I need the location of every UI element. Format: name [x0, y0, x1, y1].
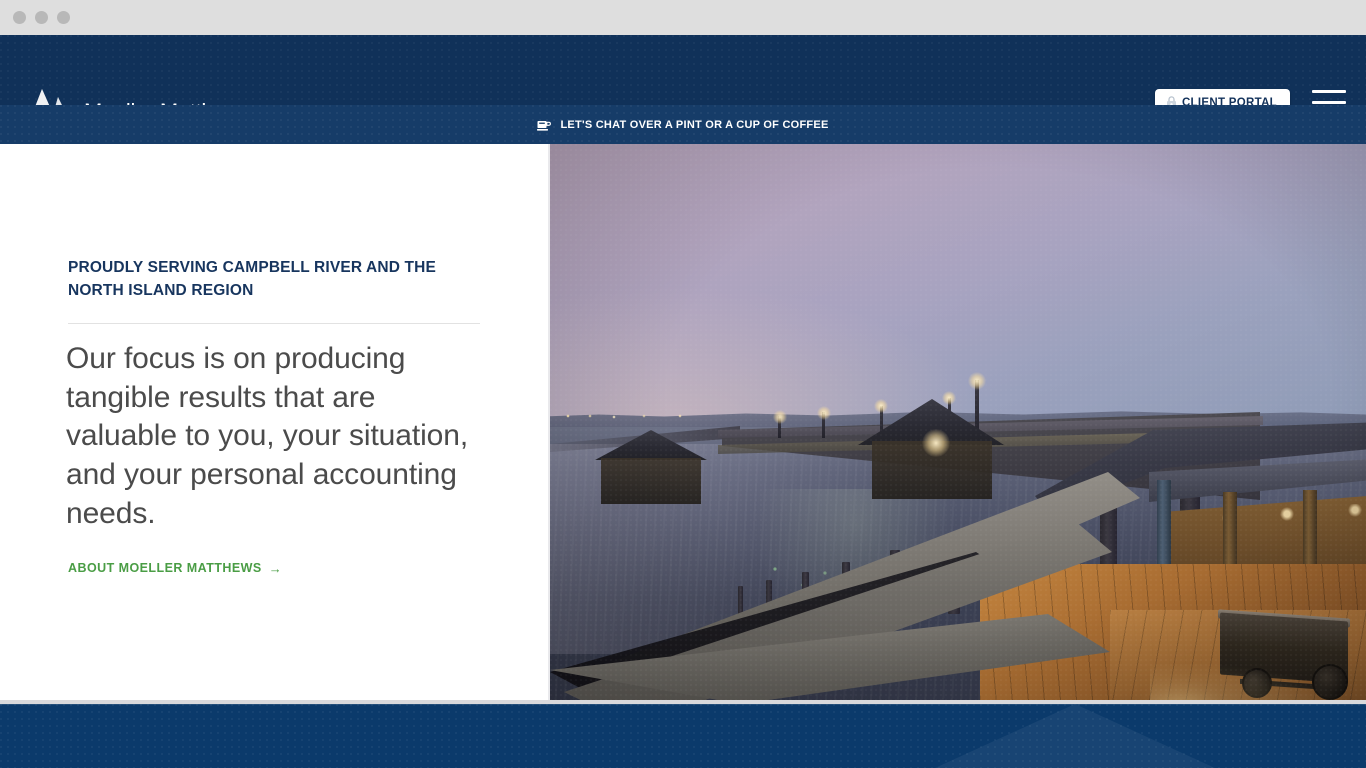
page-root: Moeller Matthews CHARTERED PROFESSIONAL … — [0, 0, 1366, 768]
bottom-band — [0, 704, 1366, 768]
photo-shelter-lamp-glow — [922, 429, 950, 457]
photo-small-shelter — [585, 430, 715, 510]
site-header: Moeller Matthews CHARTERED PROFESSIONAL … — [0, 35, 1366, 105]
announcement-content: LET'S CHAT OVER A PINT OR A CUP OF COFFE… — [537, 119, 828, 131]
hero-photo — [548, 144, 1366, 704]
about-link-label: ABOUT MOELLER MATTHEWS — [68, 561, 262, 575]
window-dot-3-icon[interactable] — [57, 11, 70, 24]
hero-lede: Our focus is on producing tangible resul… — [66, 340, 476, 533]
photo-shelter-roof — [585, 430, 715, 460]
photo-mid-shelter — [850, 399, 1010, 509]
window-controls[interactable] — [13, 11, 70, 24]
hamburger-bar-1 — [1312, 90, 1346, 93]
photo-lamp-glow — [968, 372, 986, 390]
announcement-bar[interactable]: LET'S CHAT OVER A PINT OR A CUP OF COFFE… — [0, 105, 1366, 144]
hero-eyebrow: PROUDLY SERVING CAMPBELL RIVER AND THE N… — [68, 257, 483, 303]
arrow-right-icon: → — [269, 562, 282, 575]
about-link[interactable]: ABOUT MOELLER MATTHEWS → — [68, 561, 282, 575]
hamburger-bar-2 — [1312, 101, 1346, 104]
window-dot-2-icon[interactable] — [35, 11, 48, 24]
hero-section: PROUDLY SERVING CAMPBELL RIVER AND THE N… — [0, 144, 1366, 704]
bottom-band-edge — [0, 704, 1366, 705]
window-dot-1-icon[interactable] — [13, 11, 26, 24]
mountain-accent-shape — [935, 704, 1215, 768]
coffee-cup-icon — [537, 119, 551, 131]
photo-lamp-glow — [773, 410, 787, 424]
announcement-text: LET'S CHAT OVER A PINT OR A CUP OF COFFE… — [560, 119, 828, 131]
browser-chrome — [0, 0, 1366, 35]
photo-shelter-body — [601, 458, 701, 504]
hero-copy-panel: PROUDLY SERVING CAMPBELL RIVER AND THE N… — [0, 144, 548, 704]
photo-distant-town-lights — [560, 414, 740, 419]
photo-spotlight-beam — [1150, 664, 1360, 704]
photo-piling — [738, 586, 743, 614]
photo-lamp-glow — [817, 406, 831, 420]
pier-photograph — [550, 144, 1366, 704]
hero-divider — [68, 323, 480, 324]
